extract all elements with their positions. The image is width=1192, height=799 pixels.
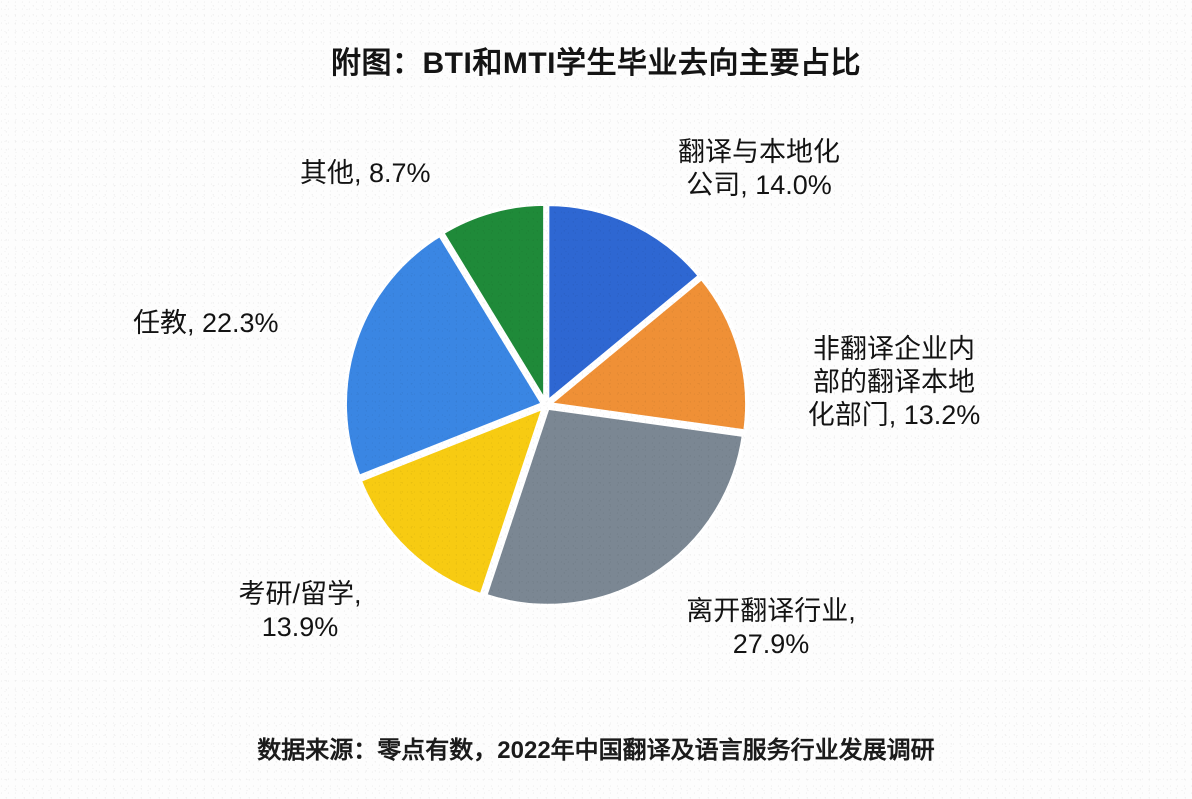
pie-chart-figure: 附图：BTI和MTI学生毕业去向主要占比 翻译与本地化公司 14%非翻译企业内部… [0,0,1192,799]
slice-label-teaching: 任教, 22.3% [133,307,363,340]
slice-label-postgrad-study-abroad: 考研/留学, 13.9% [188,578,412,644]
slice-label-translation-company: 翻译与本地化 公司, 14.0% [636,136,882,202]
slice-label-inhouse-department: 非翻译企业内 部的翻译本地 化部门, 13.2% [768,333,1020,432]
slice-label-left-industry: 离开翻译行业, 27.9% [640,595,902,661]
pie-slice-group: 翻译与本地化公司 14%非翻译企业内部的翻译本地化部门 13.2%离开翻译行业 … [345,204,747,606]
pie-chart-graphic: 翻译与本地化公司 14%非翻译企业内部的翻译本地化部门 13.2%离开翻译行业 … [342,201,750,609]
slice-label-other: 其他, 8.7% [300,157,520,190]
chart-title: 附图：BTI和MTI学生毕业去向主要占比 [0,38,1192,82]
source-note: 数据来源：零点有数，2022年中国翻译及语言服务行业发展调研 [0,730,1192,765]
pie-svg: 翻译与本地化公司 14%非翻译企业内部的翻译本地化部门 13.2%离开翻译行业 … [342,201,750,609]
